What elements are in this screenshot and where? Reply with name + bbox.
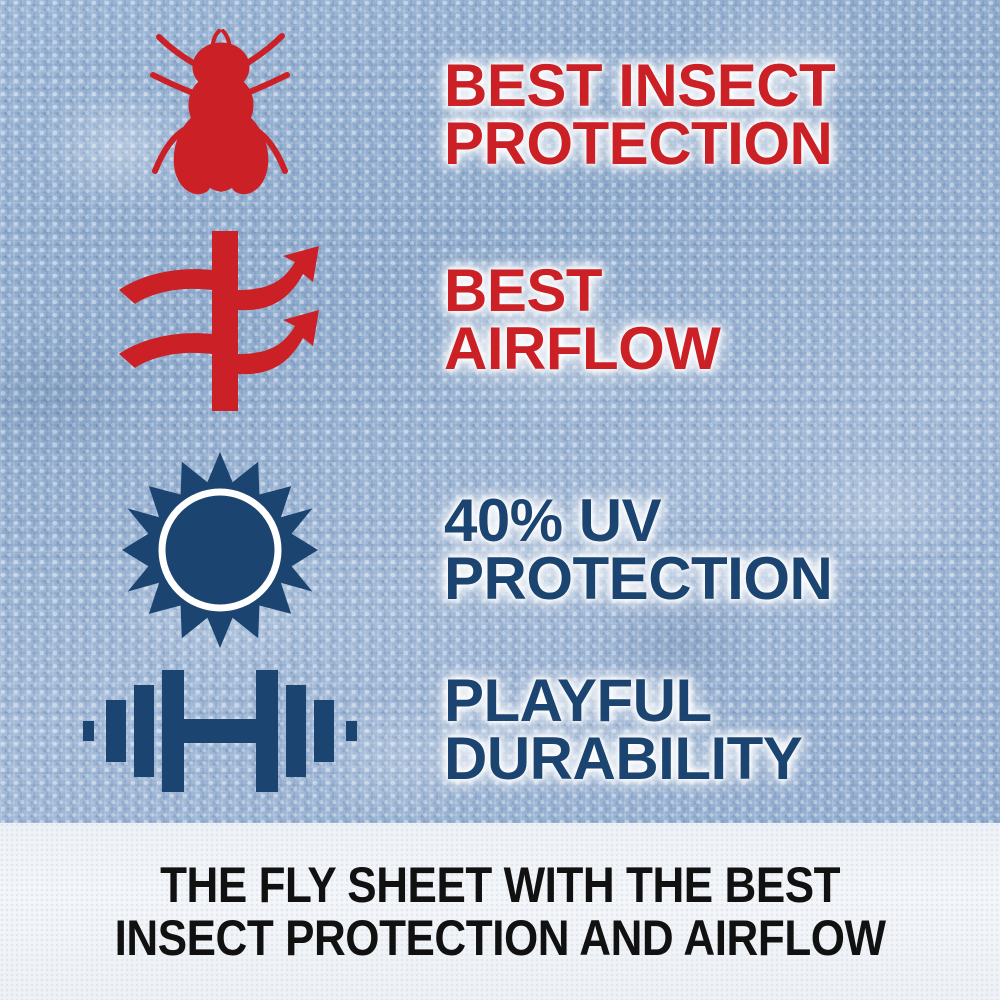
feature-text-cell: BEST AIRFLOW bbox=[440, 262, 1000, 377]
feature-icon-cell bbox=[0, 23, 440, 208]
feature-text-cell: 40% UV PROTECTION bbox=[440, 492, 1000, 607]
feature-label-insect-protection: BEST INSECT PROTECTION bbox=[444, 57, 1000, 172]
feature-text-cell: PLAYFUL DURABILITY bbox=[440, 672, 1000, 787]
feature-row-insect-protection: BEST INSECT PROTECTION bbox=[0, 20, 1000, 210]
feature-label-uv-protection: 40% UV PROTECTION bbox=[444, 492, 1000, 607]
feature-text-cell: BEST INSECT PROTECTION bbox=[440, 57, 1000, 172]
caption-text: THE FLY SHEET WITH THE BEST INSECT PROTE… bbox=[114, 859, 885, 965]
dumbbell-icon bbox=[81, 664, 359, 796]
feature-row-airflow: BEST AIRFLOW bbox=[0, 225, 1000, 415]
caption-banner: THE FLY SHEET WITH THE BEST INSECT PROTE… bbox=[0, 823, 1000, 1000]
feature-icon-cell bbox=[0, 664, 440, 796]
fly-icon bbox=[145, 23, 295, 208]
feature-row-durability: PLAYFUL DURABILITY bbox=[0, 660, 1000, 800]
feature-icon-cell bbox=[0, 450, 440, 650]
sun-uv-icon bbox=[120, 450, 320, 650]
feature-label-durability: PLAYFUL DURABILITY bbox=[444, 672, 1000, 787]
feature-icon-cell bbox=[0, 228, 440, 413]
feature-label-airflow: BEST AIRFLOW bbox=[444, 262, 1000, 377]
product-feature-poster: BEST INSECT PROTECTION bbox=[0, 0, 1000, 1000]
feature-row-uv-protection: 40% UV PROTECTION bbox=[0, 450, 1000, 650]
airflow-arrows-icon bbox=[113, 228, 328, 413]
